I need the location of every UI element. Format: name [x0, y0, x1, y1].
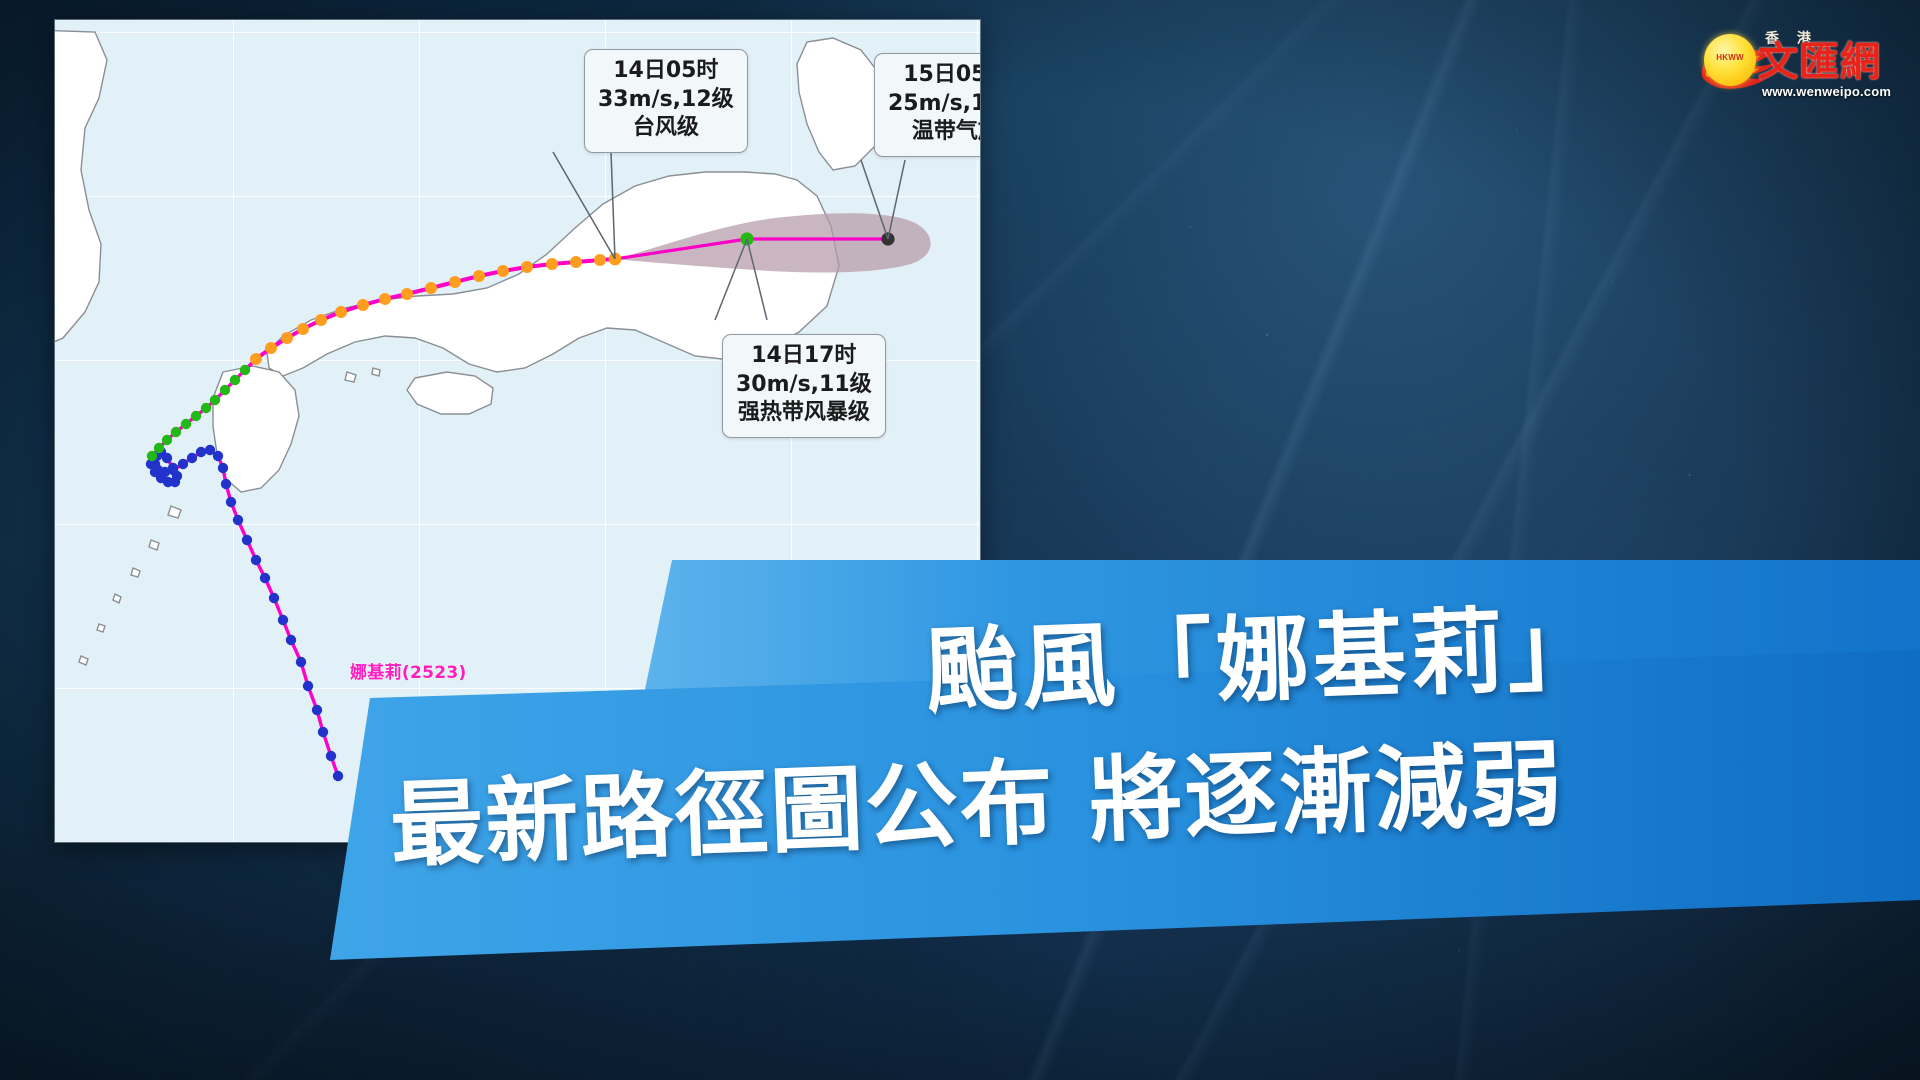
- callout-category: 台风级: [598, 114, 734, 143]
- island-dot-a: [345, 372, 356, 382]
- callout-wind: 33m/s,12级: [598, 86, 734, 115]
- callout-wind: 30m/s,11级: [736, 371, 872, 400]
- island-dot-c: [168, 506, 181, 518]
- headline-line-1: 颱風「娜基莉」: [923, 572, 1606, 731]
- callout-15d05h[interactable]: 15日05时 25m/s,10级 温带气旋: [874, 53, 980, 157]
- logo-wordmark: 文匯網: [1758, 42, 1881, 82]
- callout-date: 14日17时: [736, 342, 872, 371]
- callout-14d05h[interactable]: 14日05时 33m/s,12级 台风级: [584, 49, 748, 153]
- callout-category: 温带气旋: [888, 118, 980, 147]
- wenweipo-logo[interactable]: HKWW 香 港 文匯網 www.wenweipo.com: [1702, 20, 1902, 104]
- callout-date: 15日05时: [888, 61, 980, 90]
- callout-date: 14日05时: [598, 57, 734, 86]
- sun-monogram: HKWW: [1711, 53, 1749, 62]
- callout-wind: 25m/s,10级: [888, 90, 980, 119]
- island-dot-b: [372, 368, 380, 376]
- headline-banner: 颱風「娜基莉」 最新路徑圖公布 將逐漸減弱: [0, 560, 1920, 1080]
- news-graphic: 14日05时 33m/s,12级 台风级 15日05时 25m/s,10级 温带…: [0, 0, 1920, 1080]
- callout-category: 强热带风暴级: [736, 399, 872, 428]
- korea-landmass: [55, 30, 107, 350]
- island-dot-d: [149, 540, 159, 550]
- shikoku-landmass: [407, 372, 493, 414]
- callout-14d17h[interactable]: 14日17时 30m/s,11级 强热带风暴级: [722, 334, 886, 438]
- logo-url: www.wenweipo.com: [1762, 84, 1891, 99]
